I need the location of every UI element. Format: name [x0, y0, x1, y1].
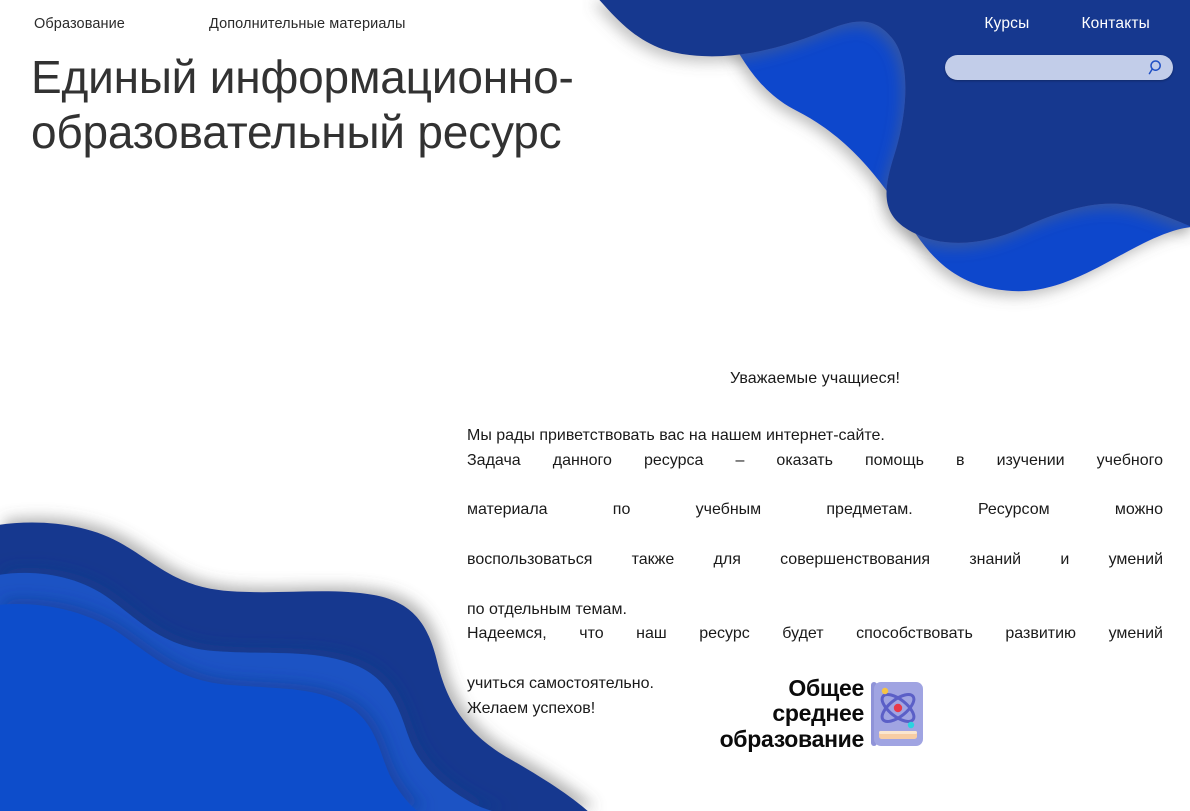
logo-line-2: среднее: [720, 701, 864, 727]
site-header: Образование Дополнительные материалы Кур…: [0, 0, 1190, 95]
wave-shape-bright-bottom: [0, 604, 420, 811]
search-input[interactable]: [957, 55, 1153, 82]
search-icon[interactable]: [1148, 59, 1165, 76]
paragraph-line: воспользоваться также для совершенствова…: [467, 548, 1163, 598]
search-bar: [945, 55, 1173, 80]
primary-nav-left: Образование Дополнительные материалы: [34, 16, 406, 32]
greeting-heading: Уважаемые учащиеся!: [467, 370, 1163, 388]
logo-line-1: Общее: [720, 676, 864, 702]
paragraph-line: материала по учебным предметам. Ресурсом…: [467, 498, 1163, 548]
paragraph-line: Задача данного ресурса – оказать помощь …: [467, 449, 1163, 499]
main-content: Уважаемые учащиеся! Мы рады приветствова…: [467, 370, 1163, 722]
logo-text: Общее среднее образование: [720, 676, 864, 753]
logo-line-3: образование: [720, 727, 864, 753]
search-box[interactable]: [945, 55, 1173, 80]
wave-shape-mid-bottom: [0, 573, 504, 811]
book-atom-icon: [870, 681, 924, 747]
paragraph-line: по отдельным темам.: [467, 598, 1163, 623]
nav-link-education[interactable]: Образование: [34, 16, 125, 32]
site-logo[interactable]: Общее среднее образование: [662, 672, 924, 756]
primary-nav-right: Курсы Контакты: [984, 15, 1150, 33]
nav-link-contacts[interactable]: Контакты: [1081, 15, 1150, 33]
page-root: Образование Дополнительные материалы Кур…: [0, 0, 1190, 811]
nav-link-courses[interactable]: Курсы: [984, 15, 1029, 33]
paragraph-line: Надеемся, что наш ресурс будет способств…: [467, 622, 1163, 672]
nav-link-additional-materials[interactable]: Дополнительные материалы: [209, 16, 406, 32]
paragraph-line: Мы рады приветствовать вас на нашем инте…: [467, 424, 1163, 449]
